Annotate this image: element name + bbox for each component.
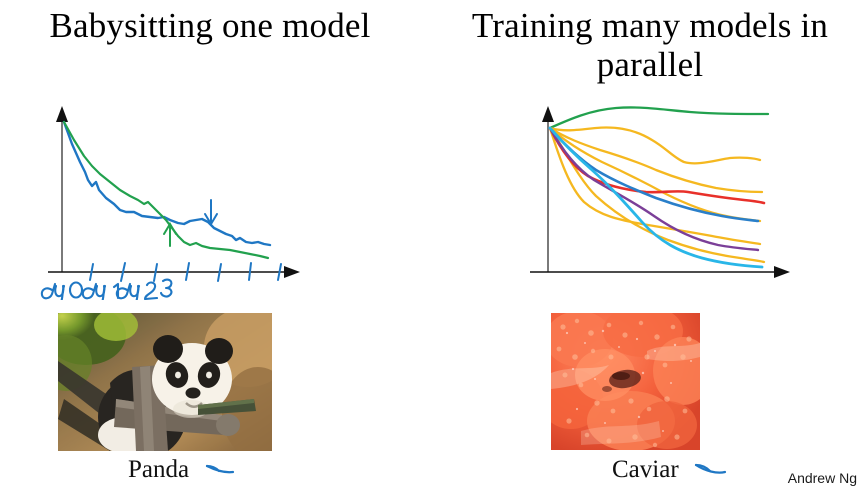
- chart-right-svg: [520, 100, 810, 300]
- page-title-right: Training many models in parallel: [450, 6, 850, 84]
- left-arrow-annotation-svg: [203, 458, 235, 478]
- caption-panda: Panda: [128, 456, 235, 485]
- series-gold-curve-steep: [550, 128, 760, 244]
- attribution-text: Andrew Ng: [788, 470, 857, 486]
- slide-canvas: Babysitting one model Training many mode…: [0, 0, 865, 497]
- panda-photo-artwork: [58, 313, 272, 451]
- chart-babysitting-one-model: [30, 100, 320, 300]
- series-green-rising-curve: [550, 107, 768, 128]
- panda-photo: [58, 313, 272, 451]
- series-blue-learning-curve: [64, 122, 270, 245]
- chart-training-many-models: [520, 100, 810, 300]
- caviar-photo: [551, 313, 700, 450]
- x-axis-arrow-icon: [284, 266, 300, 278]
- chart-left-svg: [30, 100, 320, 300]
- y-axis-arrow-icon: [56, 106, 68, 122]
- y-axis-arrow-icon: [542, 106, 554, 122]
- series-gold-curve-low: [550, 128, 764, 262]
- left-arrow-annotation-icon: [203, 457, 235, 485]
- label-day-1: [83, 284, 118, 300]
- x-axis-handwritten-labels: [42, 280, 172, 300]
- caviar-photo-artwork: [551, 313, 700, 450]
- caption-caviar-label: Caviar: [612, 456, 679, 483]
- caption-caviar: Caviar: [612, 456, 727, 485]
- x-axis-arrow-icon: [774, 266, 790, 278]
- caption-panda-label: Panda: [128, 456, 189, 483]
- series-green-learning-curve: [64, 122, 268, 258]
- page-title-left: Babysitting one model: [10, 6, 410, 45]
- annotation-up-arrow-green: [164, 224, 176, 246]
- left-arrow-annotation-svg: [693, 458, 727, 478]
- label-day-0: [42, 283, 82, 301]
- left-arrow-annotation-icon: [693, 457, 727, 485]
- series-red-curve: [550, 128, 764, 203]
- label-day-2: [117, 280, 172, 300]
